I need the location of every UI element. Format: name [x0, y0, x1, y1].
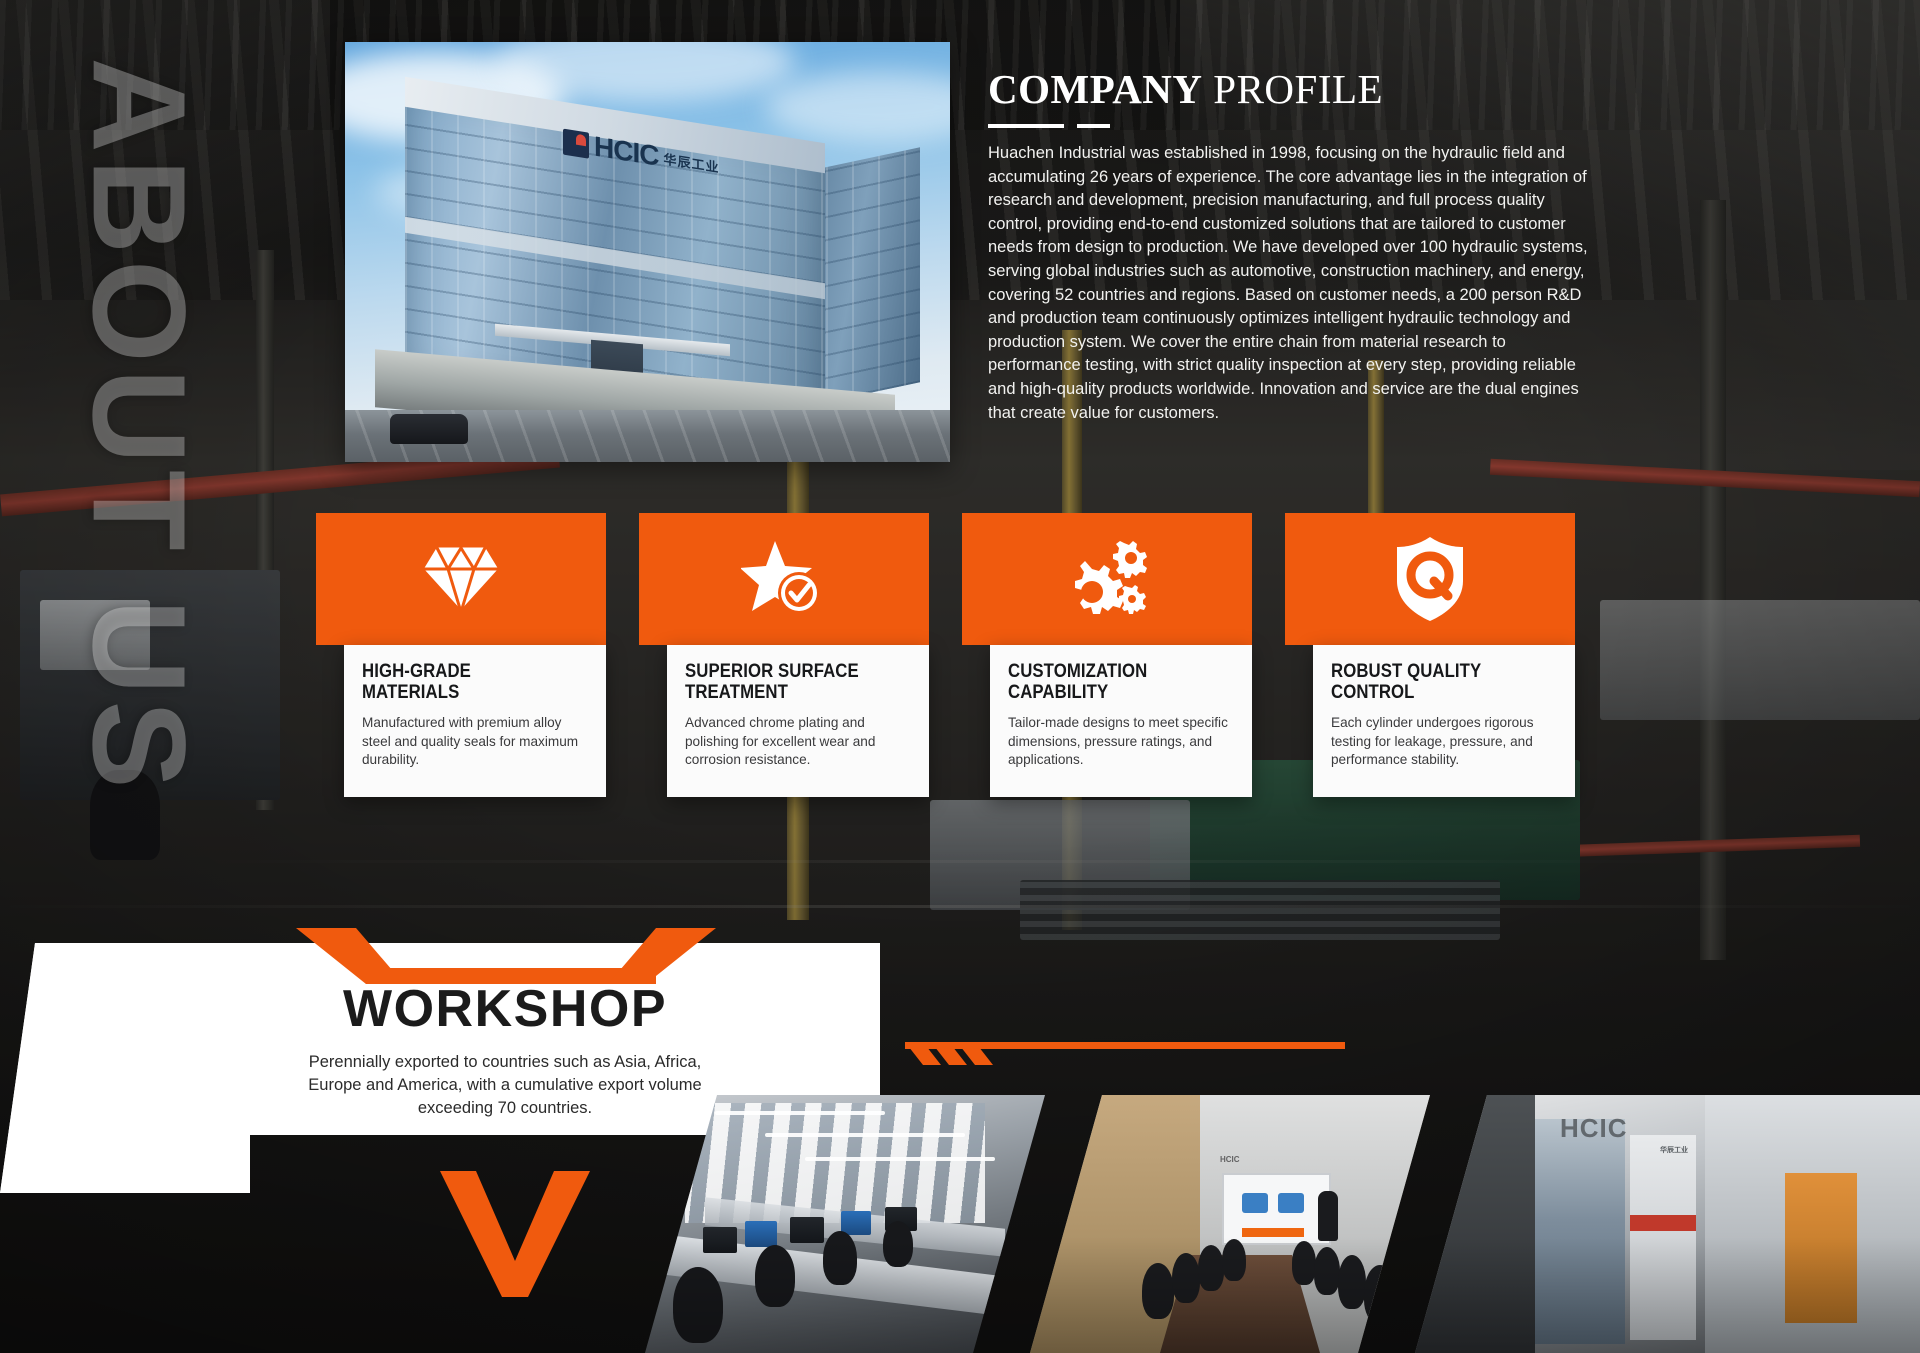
- showroom-photo: HCIC 华辰工业: [1415, 1095, 1920, 1353]
- gears-icon: [1059, 531, 1155, 627]
- feature-card-list: HIGH-GRADE MATERIALS Manufactured with p…: [316, 513, 1606, 783]
- meeting-photo-scene: HCIC HCIC: [1030, 1095, 1430, 1353]
- feature-card-desc: Each cylinder undergoes rigorous testing…: [1331, 714, 1557, 770]
- feature-card-title: ROBUST QUALITY CONTROL: [1331, 661, 1525, 702]
- feature-card-body: HIGH-GRADE MATERIALS Manufactured with p…: [344, 645, 606, 797]
- workshop-bottom-chevron: [440, 1171, 590, 1299]
- feature-card-desc: Manufactured with premium alloy steel an…: [362, 714, 588, 770]
- photo-shadow: [1415, 1095, 1920, 1353]
- feature-card-desc: Advanced chrome plating and polishing fo…: [685, 714, 911, 770]
- underline-short: [1077, 124, 1110, 128]
- showroom-photo-scene: HCIC 华辰工业: [1415, 1095, 1920, 1353]
- company-profile-text: Huachen Industrial was established in 19…: [988, 142, 1600, 425]
- feature-card-desc: Tailor-made designs to meet specific dim…: [1008, 714, 1234, 770]
- page-title-light: PROFILE: [1203, 66, 1384, 112]
- feature-card-body: SUPERIOR SURFACE TREATMENT Advanced chro…: [667, 645, 929, 797]
- company-profile-block: COMPANY PROFILE Huachen Industrial was e…: [988, 68, 1600, 425]
- workshop-title: WORKSHOP: [290, 983, 720, 1035]
- feature-card-title: CUSTOMIZATION CAPABILITY: [1008, 661, 1202, 702]
- headquarters-photo: HCIC 华辰工业: [345, 42, 950, 462]
- feature-card-title: SUPERIOR SURFACE TREATMENT: [685, 661, 879, 702]
- feature-card-body: CUSTOMIZATION CAPABILITY Tailor-made des…: [990, 645, 1252, 797]
- feature-card-title: HIGH-GRADE MATERIALS: [362, 661, 556, 702]
- underline-long: [988, 124, 1064, 128]
- office-photo: [645, 1095, 1045, 1353]
- feature-card-header: [962, 513, 1252, 645]
- feature-card[interactable]: ROBUST QUALITY CONTROL Each cylinder und…: [1285, 513, 1575, 797]
- hcic-logo-chinese: 华辰工业: [663, 148, 719, 176]
- photo-shadow: [645, 1095, 1045, 1353]
- photo-shadow: [1030, 1095, 1430, 1353]
- feature-card[interactable]: HIGH-GRADE MATERIALS Manufactured with p…: [316, 513, 606, 797]
- meeting-photo: HCIC HCIC: [1030, 1095, 1430, 1353]
- office-photo-scene: [645, 1095, 1045, 1353]
- diamond-icon: [413, 531, 509, 627]
- title-underline: [988, 124, 1600, 128]
- feature-card-header: [316, 513, 606, 645]
- hcic-logo-mark: [563, 129, 589, 159]
- feature-card-header: [1285, 513, 1575, 645]
- feature-card-body: ROBUST QUALITY CONTROL Each cylinder und…: [1313, 645, 1575, 797]
- about-us-page: ABOUT US HCIC 华辰工业 COMPANY PROFILE: [0, 0, 1920, 1353]
- orange-line-decoration: [895, 1036, 1345, 1076]
- workshop-photo-strip: HCIC HCIC: [645, 1095, 1920, 1353]
- feature-card-header: [639, 513, 929, 645]
- page-title-bold: COMPANY: [988, 66, 1203, 112]
- feature-card[interactable]: SUPERIOR SURFACE TREATMENT Advanced chro…: [639, 513, 929, 797]
- parked-car: [390, 414, 468, 444]
- section-side-label: ABOUT US: [73, 57, 205, 794]
- page-title: COMPANY PROFILE: [988, 68, 1600, 111]
- feature-card[interactable]: CUSTOMIZATION CAPABILITY Tailor-made des…: [962, 513, 1252, 797]
- star-check-icon: [736, 531, 832, 627]
- shield-q-icon: [1382, 531, 1478, 627]
